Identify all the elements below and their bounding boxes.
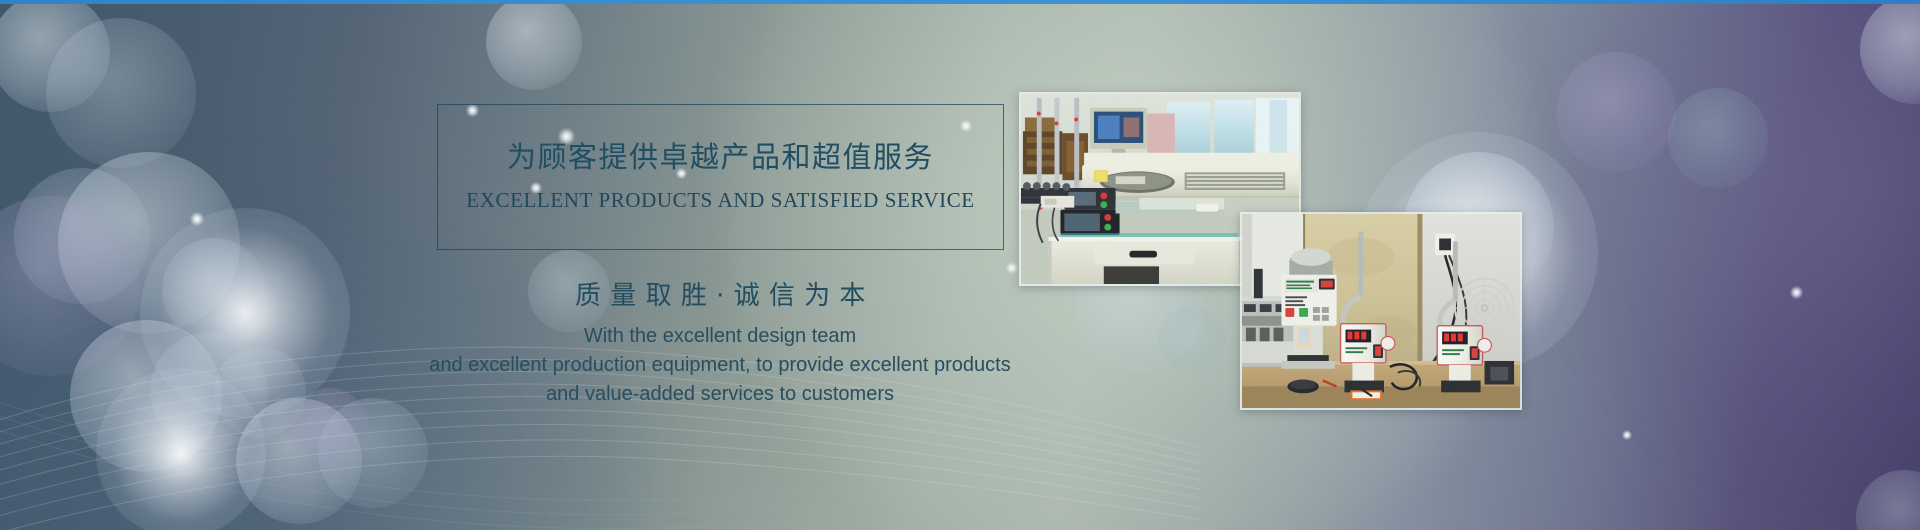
- top-accent-rule: [0, 0, 1920, 4]
- paragraph-line-2: and excellent production equipment, to p…: [330, 351, 1110, 380]
- bokeh-circle: [1668, 88, 1768, 188]
- bokeh-circle: [1860, 0, 1920, 104]
- bokeh-circle: [0, 0, 110, 112]
- bokeh-circle: [1556, 52, 1676, 172]
- paragraph-line-1: With the excellent design team: [330, 322, 1110, 351]
- grain-overlay: [0, 0, 1920, 530]
- right-violet-wash: [1560, 0, 1920, 470]
- bokeh-circle: [1856, 470, 1920, 530]
- bokeh-circle: [318, 398, 428, 508]
- press-photo-artwork: [1242, 214, 1520, 408]
- bokeh-circle: [236, 398, 362, 524]
- bokeh-circle: [58, 152, 240, 334]
- bokeh-circle: [14, 168, 150, 304]
- slogan-text: 质 量 取 胜 · 诚 信 为 本: [437, 275, 1004, 312]
- description-paragraph: With the excellent design team and excel…: [330, 322, 1110, 409]
- bokeh-glow: [140, 208, 350, 418]
- bokeh-circle: [214, 346, 306, 438]
- sparkle-dot: [1790, 286, 1803, 299]
- sparkle-dot: [1006, 262, 1018, 274]
- sparkle-dot: [1622, 430, 1632, 440]
- bokeh-circle: [70, 320, 222, 472]
- bokeh-glow: [96, 368, 266, 530]
- bokeh-circle: [162, 238, 266, 342]
- sparkle-dot: [190, 212, 204, 226]
- bokeh-circle: [0, 196, 140, 376]
- headline-english: EXCELLENT PRODUCTS AND SATISFIED SERVICE: [437, 188, 1004, 213]
- paragraph-line-3: and value-added services to customers: [330, 380, 1110, 409]
- press-machines-photo: [1240, 212, 1522, 410]
- headline-frame: [437, 104, 1004, 250]
- bokeh-circle: [150, 332, 268, 450]
- promo-banner: 为顾客提供卓越产品和超值服务 EXCELLENT PRODUCTS AND SA…: [0, 0, 1920, 530]
- bokeh-circle: [1158, 306, 1226, 374]
- bokeh-circle: [486, 0, 582, 90]
- bokeh-circle: [46, 18, 196, 168]
- headline-chinese: 为顾客提供卓越产品和超值服务: [437, 134, 1004, 176]
